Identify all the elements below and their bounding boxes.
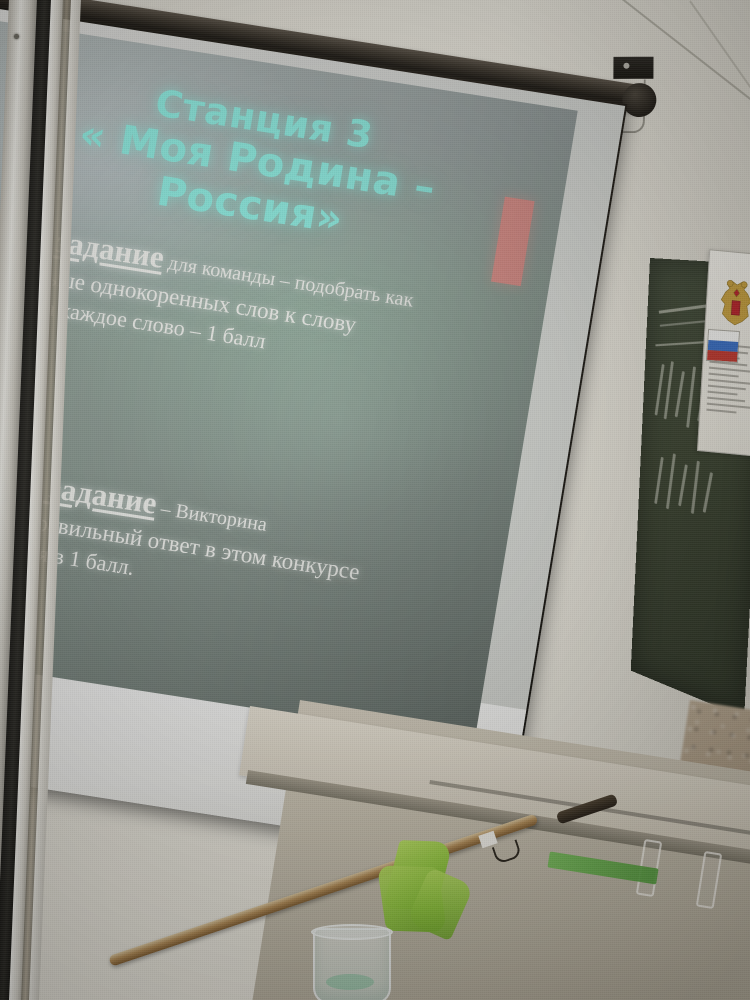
slide-task-two: Второе задание – Викторина Каждый правил… [0, 450, 502, 637]
green-cleaning-cloth[interactable] [382, 840, 468, 936]
frame-screw-icon [14, 34, 19, 39]
plastic-cup-rim [311, 924, 393, 940]
russian-flag-icon [706, 329, 740, 363]
wall-mount-bracket-icon [613, 57, 653, 79]
photo-scene: Станция 3 « Моя Родина – Россия» Первое … [0, 0, 750, 1000]
cup-liquid [326, 974, 374, 990]
double-headed-eagle-icon [713, 273, 750, 337]
projected-slide: Станция 3 « Моя Родина – Россия» Первое … [0, 15, 578, 742]
